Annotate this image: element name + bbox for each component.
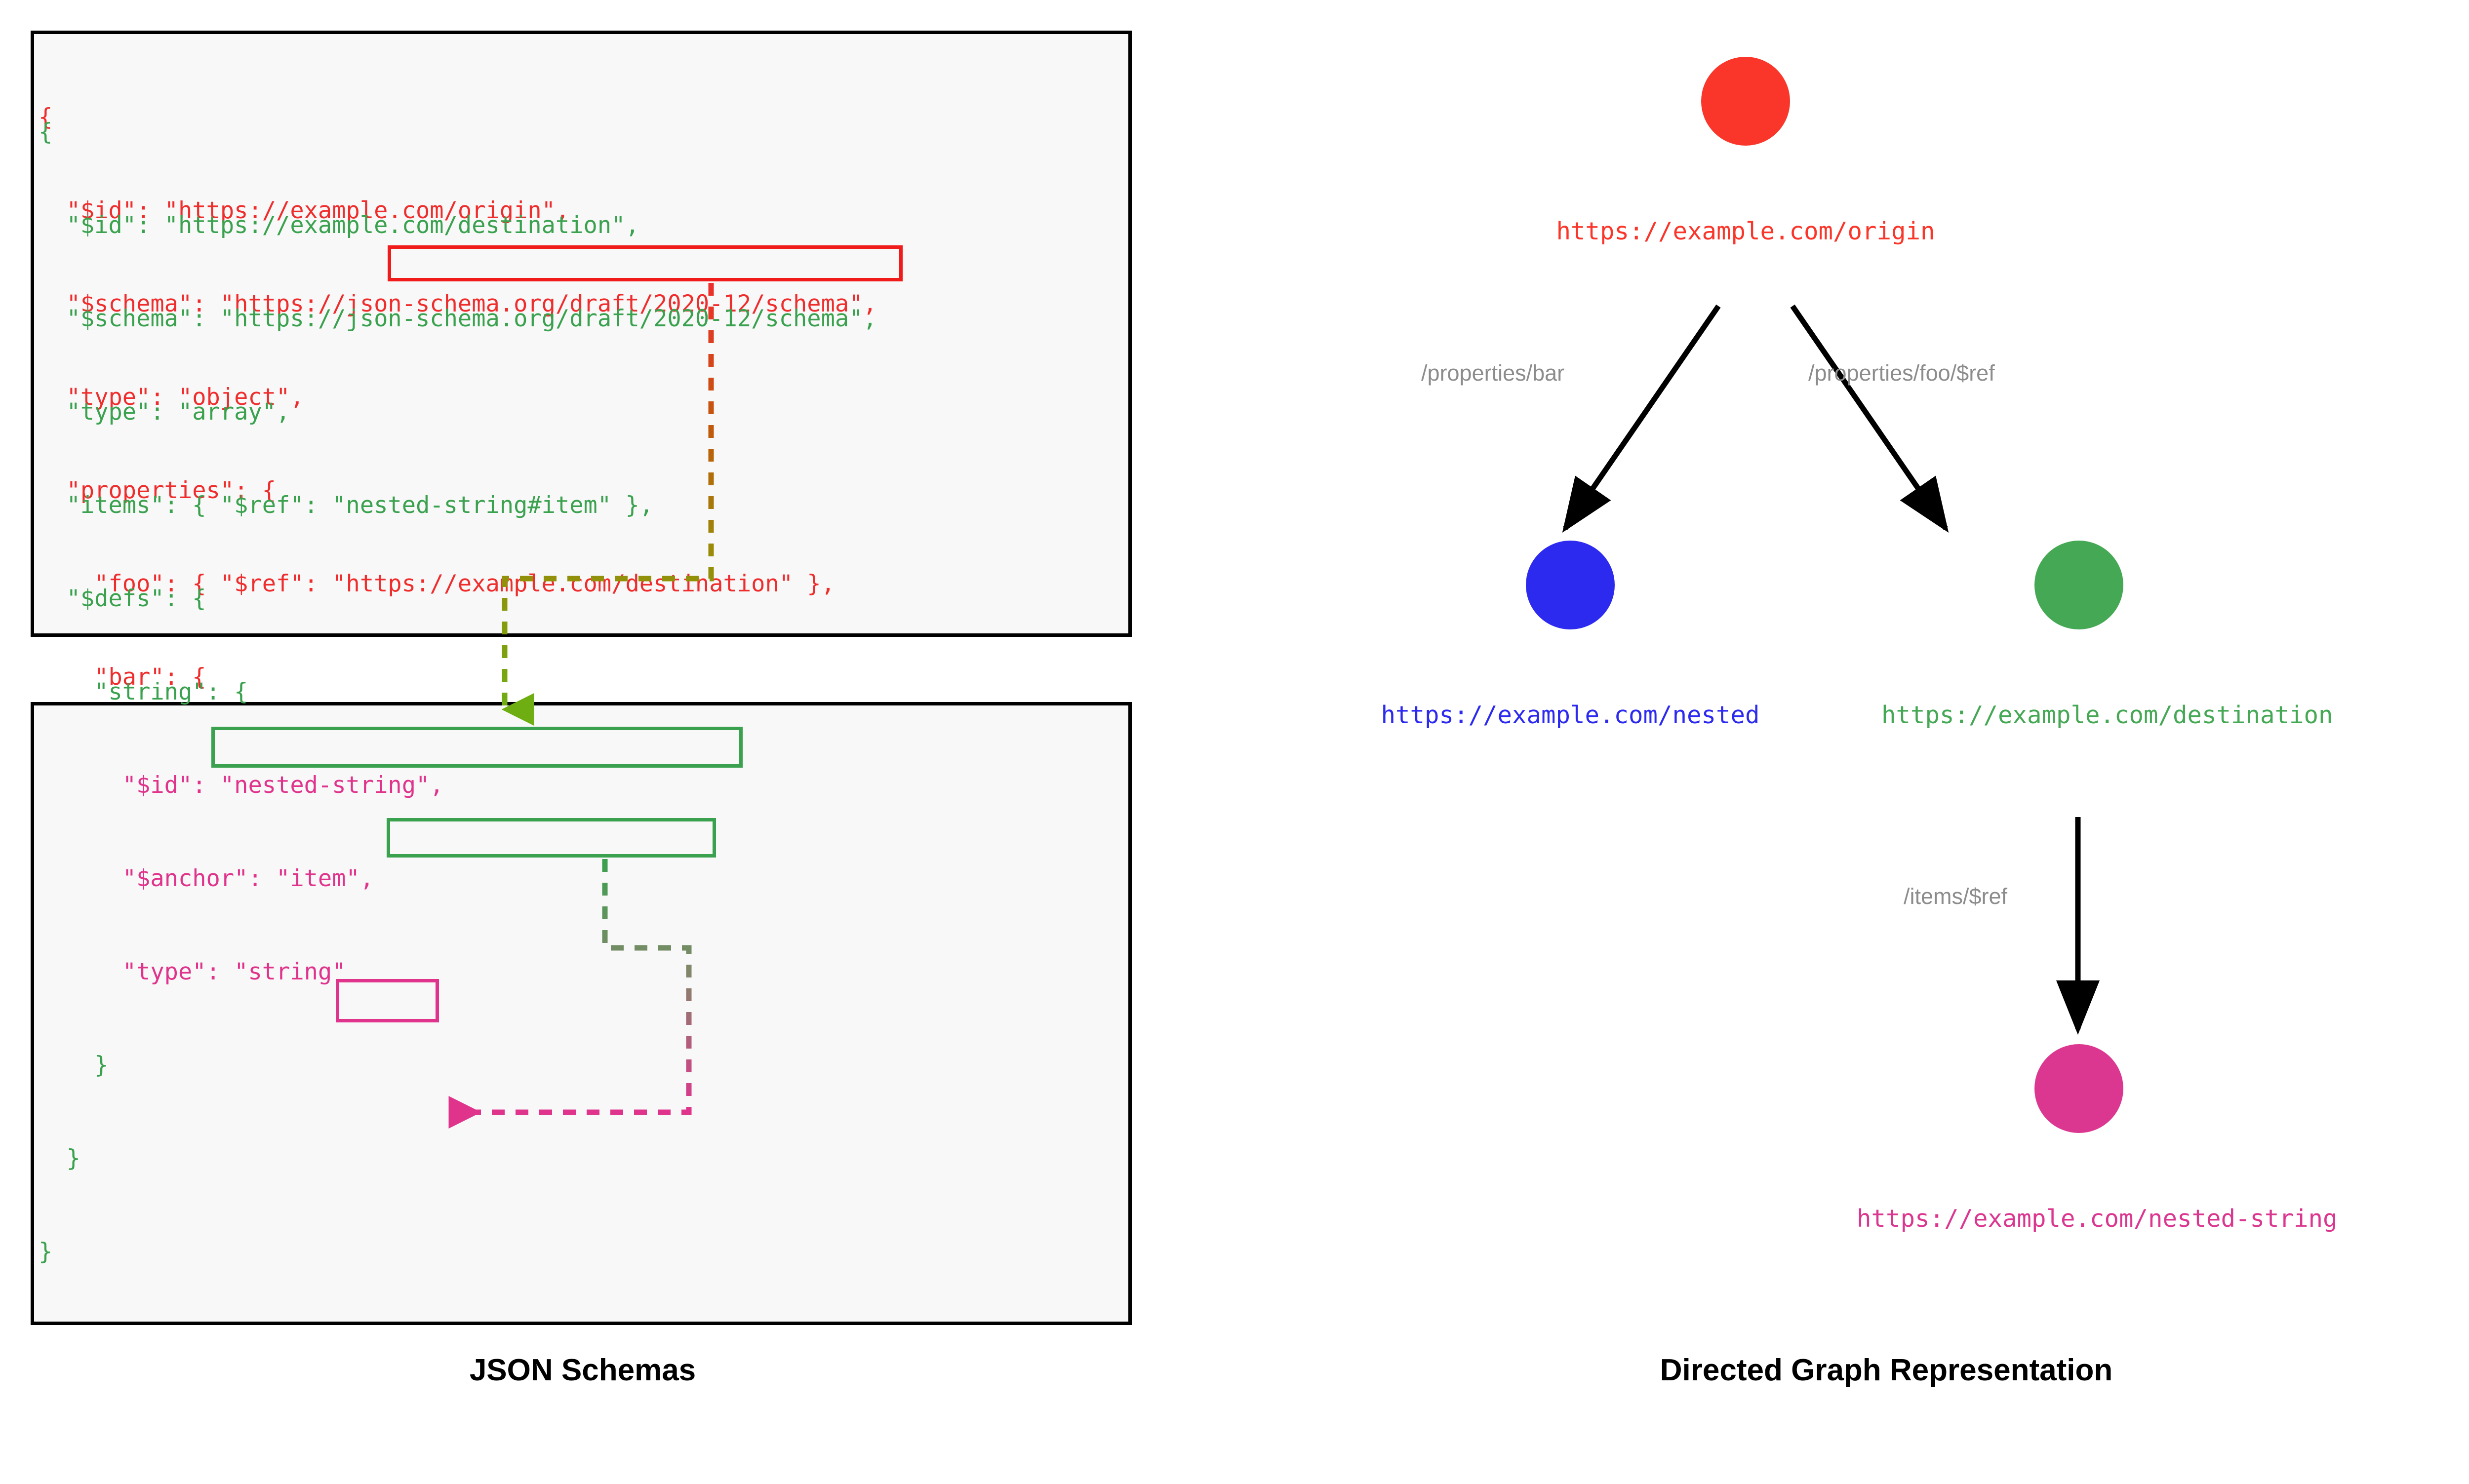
code-line: "$schema": "https://json-schema.org/draf…: [39, 303, 877, 334]
code-line-anchor: "$anchor": "item",: [39, 863, 877, 894]
graph-node-origin[interactable]: [1701, 57, 1790, 146]
graph-edges: [1185, 0, 2469, 1333]
graph-node-nested-string[interactable]: [2034, 1044, 2123, 1133]
graph-edge-label-items-ref: /items/$ref: [1904, 884, 2007, 909]
graph-node-label-nested-string: https://example.com/nested-string: [1857, 1205, 2301, 1233]
code-line: "string": {: [39, 676, 877, 707]
graph-edge-label-properties-foo-ref: /properties/foo/$ref: [1808, 360, 1995, 386]
highlight-destination-ref-value: [387, 818, 716, 858]
code-line: "type": "string": [39, 956, 877, 987]
graph-edge-label-properties-bar: /properties/bar: [1421, 360, 1564, 386]
graph-node-label-nested: https://example.com/nested: [1373, 701, 1768, 729]
code-line: "$id": "nested-string",: [39, 770, 877, 801]
code-line-id: "$id": "https://example.com/destination"…: [39, 210, 877, 241]
graph-node-label-origin: https://example.com/origin: [1548, 217, 1943, 245]
figure-root: { "$id": "https://example.com/origin", "…: [0, 0, 2469, 1484]
directed-graph: https://example.com/origin https://examp…: [1185, 0, 2469, 1333]
highlight-destination-id-value: [211, 727, 743, 768]
graph-node-label-destination: https://example.com/destination: [1881, 701, 2276, 729]
code-line: }: [39, 1236, 877, 1267]
code-line: {: [39, 117, 877, 148]
graph-node-destination[interactable]: [2034, 541, 2123, 629]
code-line: "type": "array",: [39, 396, 877, 428]
right-caption: Directed Graph Representation: [1284, 1353, 2469, 1388]
code-line: }: [39, 1050, 877, 1081]
code-line: }: [39, 1143, 877, 1174]
code-line: "$defs": {: [39, 583, 877, 614]
highlight-destination-anchor-value: [336, 979, 439, 1022]
code-line-items-ref: "items": { "$ref": "nested-string#item" …: [39, 490, 877, 521]
left-caption: JSON Schemas: [0, 1353, 1165, 1388]
destination-schema-code: { "$id": "https://example.com/destinatio…: [39, 54, 877, 1329]
graph-node-nested[interactable]: [1526, 541, 1615, 629]
